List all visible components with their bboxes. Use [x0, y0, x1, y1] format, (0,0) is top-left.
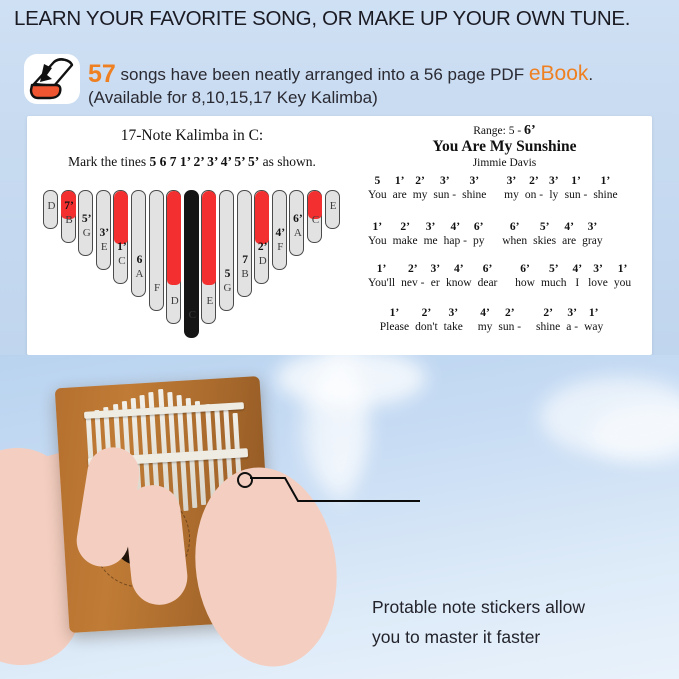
song-line-2: 1’You2’make3’me4’hap -6’py 6’when5’skies…: [365, 220, 647, 249]
tine-number-label: 7: [237, 254, 254, 266]
tine-marked-cap: [255, 191, 269, 245]
song-syllable: 4’my: [478, 306, 493, 335]
song-word: my: [504, 188, 519, 203]
tine-letter-label: D: [43, 200, 60, 212]
photo-caption: Protable note stickers allow you to mast…: [372, 592, 672, 652]
song-note: 1’: [373, 220, 383, 234]
tine-6[interactable]: 6A: [131, 190, 146, 297]
tine-number-label: 2’: [254, 241, 271, 253]
song-note: 5’: [540, 220, 550, 234]
song-line-row: 1’You'll2’nev -3’er4’know6’dear 6’how5’m…: [365, 262, 647, 291]
song-syllable: 2’on -: [525, 174, 543, 203]
song-word: nev -: [401, 276, 424, 291]
song-word: know: [446, 276, 472, 291]
song-syllable: 2’make: [393, 220, 418, 249]
tine-letter-label: E: [201, 295, 218, 307]
song-syllable: 4’hap -: [444, 220, 467, 249]
song-note: 2’: [400, 220, 410, 234]
song-note: 5’: [549, 262, 559, 276]
tine-letter-label: C: [307, 214, 324, 226]
song-note: 1’: [395, 174, 405, 188]
song-syllable: 3’er: [430, 262, 440, 291]
song-syllable: 2’my: [413, 174, 428, 203]
instruction-suffix: as shown.: [259, 154, 316, 169]
song-word: skies: [533, 234, 556, 249]
song-syllable: 3’me: [424, 220, 438, 249]
tine-number-label: 1’: [113, 241, 130, 253]
song-syllable: 5’skies: [533, 220, 556, 249]
song-syllable: [527, 306, 530, 335]
caption-line-2: you to master it faster: [372, 622, 672, 652]
song-syllable: 2’don't: [415, 306, 438, 335]
song-syllable: 1’You: [368, 220, 387, 249]
tine-row: D7’B5’G3’E1’C6AFDCE5G7B2’D4’F6’ACE: [43, 190, 343, 350]
song-note: 4’: [450, 220, 460, 234]
chart-instruction: Mark the tines 5 6 7 1’ 2’ 3’ 4’ 5’ 5’ a…: [27, 154, 357, 170]
song-syllable: 6’py: [473, 220, 485, 249]
promo-period: .: [588, 65, 593, 84]
instruction-prefix: Mark the tines: [68, 154, 149, 169]
product-infographic: LEARN YOUR FAVORITE SONG, OR MAKE UP YOU…: [0, 0, 679, 679]
tine-letter-label: G: [78, 227, 95, 239]
range-label: Range: 5 -: [473, 125, 524, 137]
top-banner: LEARN YOUR FAVORITE SONG, OR MAKE UP YOU…: [0, 0, 679, 366]
song-word: when: [502, 234, 527, 249]
song-syllable: [368, 306, 374, 335]
song-syllable: 3’sun -: [433, 174, 456, 203]
song-note: 4’: [564, 220, 574, 234]
tine-letter-label: E: [96, 241, 113, 253]
song-note: 1’: [571, 174, 581, 188]
song-syllable: 5You: [368, 174, 387, 203]
song-note: 3’: [440, 174, 450, 188]
song-line-row: 1’Please2’don't3’take 4’my2’sun - 2’shin…: [365, 306, 647, 335]
promo-line-2: (Available for 8,10,15,17 Key Kalimba): [88, 88, 668, 108]
tine-letter-label: D: [254, 255, 271, 267]
song-word: way: [584, 320, 603, 335]
tine-number-label: 6: [131, 254, 148, 266]
song-word: dear: [478, 276, 498, 291]
song-line-row: 5You1’are2’my3’sun -3’shine 3’my2’on -3’…: [365, 174, 647, 203]
tine-15[interactable]: 6’A: [289, 190, 304, 256]
song-note: 1’: [377, 262, 387, 276]
song-note: 6’: [510, 220, 520, 234]
song-line-row: 1’You2’make3’me4’hap -6’py 6’when5’skies…: [365, 220, 647, 249]
tine-2[interactable]: 7’B: [61, 190, 76, 243]
tine-3[interactable]: 5’G: [78, 190, 93, 256]
song-word: my: [413, 188, 428, 203]
song-syllable: [469, 306, 472, 335]
song-word: Please: [380, 320, 409, 335]
song-line-1: 5You1’are2’my3’sun -3’shine 3’my2’on -3’…: [365, 174, 647, 203]
tine-letter-label: A: [131, 268, 148, 280]
song-word: [490, 220, 496, 235]
song-syllable: 3’my: [504, 174, 519, 203]
song-syllable: 2’nev -: [401, 262, 424, 291]
song-note: 2’: [415, 174, 425, 188]
song-note: 4’: [480, 306, 490, 320]
tine-letter-label: F: [272, 241, 289, 253]
chart-title: 17-Note Kalimba in C:: [27, 127, 357, 145]
song-note: 1’: [589, 306, 599, 320]
tine-letter-label: B: [237, 268, 254, 280]
song-count: 57: [88, 60, 116, 88]
kalimba-tine-chart: 17-Note Kalimba in C: Mark the tines 5 6…: [27, 116, 357, 355]
song-syllable: 2’sun -: [498, 306, 521, 335]
song-note: 3’: [507, 174, 517, 188]
song-word: [503, 262, 509, 277]
song-note: 3’: [430, 262, 440, 276]
song-line-3: 1’You'll2’nev -3’er4’know6’dear 6’how5’m…: [365, 262, 647, 291]
page-headline: LEARN YOUR FAVORITE SONG, OR MAKE UP YOU…: [14, 7, 674, 31]
song-word: er: [431, 276, 440, 291]
tine-letter-label: C: [113, 255, 130, 267]
song-word: You: [368, 234, 387, 249]
song-word: make: [393, 234, 418, 249]
song-syllable: 4’I: [573, 262, 583, 291]
instruction-notes: 5 6 7 1’ 2’ 3’ 4’ 5’ 5’: [150, 154, 260, 169]
song-note: 2’: [505, 306, 515, 320]
song-syllable: [503, 262, 509, 291]
song-word: my: [478, 320, 493, 335]
song-word: [469, 306, 472, 321]
song-word: You: [368, 188, 387, 203]
tine-marked-cap: [167, 191, 181, 285]
song-word: gray: [582, 234, 602, 249]
song-syllable: 1’You'll: [368, 262, 395, 291]
song-note: 2’: [422, 306, 432, 320]
song-note: 1’: [601, 174, 611, 188]
tine-8[interactable]: D: [166, 190, 181, 324]
song-syllable: 1’shine: [593, 174, 617, 203]
song-syllable: 4’are: [562, 220, 576, 249]
tine-number-label: 5: [219, 268, 236, 280]
song-word: me: [424, 234, 438, 249]
song-note: 3’: [567, 306, 577, 320]
song-word: sun -: [565, 188, 588, 203]
tine-letter-label: E: [325, 200, 342, 212]
song-author: Jimmie Davis: [357, 157, 652, 169]
ebook-icon: [24, 54, 80, 104]
song-syllable: [490, 220, 496, 249]
tine-number-label: 4’: [272, 227, 289, 239]
promo-line-1: 57 songs have been neatly arranged into …: [88, 60, 668, 89]
tine-letter-label: F: [149, 282, 166, 294]
song-note: 3’: [469, 174, 479, 188]
song-syllable: 1’Please: [380, 306, 409, 335]
song-syllable: 1’are: [393, 174, 407, 203]
song-syllable: 4’know: [446, 262, 472, 291]
song-note: 2’: [543, 306, 553, 320]
promo-text: songs have been neatly arranged into a 5…: [116, 65, 529, 84]
song-sheet: Range: 5 - 6’ You Are My Sunshine Jimmie…: [357, 116, 652, 355]
range-high-note: 6’: [524, 123, 536, 138]
song-syllable: 1’you: [614, 262, 631, 291]
tine-13[interactable]: 2’D: [254, 190, 269, 284]
tine-16[interactable]: C: [307, 190, 322, 243]
tine-letter-label: D: [166, 295, 183, 307]
song-word: you: [614, 276, 631, 291]
info-card: 17-Note Kalimba in C: Mark the tines 5 6…: [27, 116, 652, 355]
song-note: 6’: [520, 262, 530, 276]
song-syllable: 2’shine: [536, 306, 560, 335]
song-note: 2’: [408, 262, 418, 276]
song-syllable: 6’when: [502, 220, 527, 249]
song-note: 3’: [593, 262, 603, 276]
song-note: 3’: [588, 220, 598, 234]
tine-letter-label: C: [184, 309, 201, 321]
tine-14[interactable]: 4’F: [272, 190, 287, 270]
tine-12[interactable]: 7B: [237, 190, 252, 297]
song-word: don't: [415, 320, 438, 335]
song-word: on -: [525, 188, 543, 203]
tine-number-label: 7’: [61, 200, 78, 212]
song-syllable: [492, 174, 498, 203]
song-note: 4’: [454, 262, 464, 276]
tine-7[interactable]: F: [149, 190, 164, 311]
caption-line-1: Protable note stickers allow: [372, 592, 672, 622]
tine-5[interactable]: 1’C: [113, 190, 128, 284]
tine-17[interactable]: E: [325, 190, 340, 229]
song-word: love: [588, 276, 608, 291]
song-note: 4’: [573, 262, 583, 276]
song-word: much: [541, 276, 567, 291]
song-syllable: 3’take: [444, 306, 463, 335]
ebook-word: eBook: [529, 62, 589, 85]
song-word: [492, 174, 498, 189]
song-note: 6’: [483, 262, 493, 276]
song-syllable: 6’how: [515, 262, 535, 291]
song-line-4: 1’Please2’don't3’take 4’my2’sun - 2’shin…: [365, 306, 647, 335]
song-word: shine: [536, 320, 560, 335]
tine-marked-cap: [202, 191, 216, 285]
song-word: You'll: [368, 276, 395, 291]
song-word: sun -: [433, 188, 456, 203]
song-word: are: [562, 234, 576, 249]
song-word: hap -: [444, 234, 467, 249]
song-note: 1’: [390, 306, 400, 320]
song-syllable: 3’ly: [549, 174, 559, 203]
tine-letter-label: B: [61, 214, 78, 226]
song-word: ly: [549, 188, 558, 203]
song-word: [368, 306, 374, 321]
song-syllable: 3’a -: [566, 306, 578, 335]
song-syllable: 3’shine: [462, 174, 486, 203]
song-range: Range: 5 - 6’: [357, 123, 652, 139]
song-syllable: 6’dear: [478, 262, 498, 291]
song-word: are: [393, 188, 407, 203]
song-title: You Are My Sunshine: [357, 138, 652, 156]
song-note: 3’: [448, 306, 458, 320]
tine-9[interactable]: C: [184, 190, 199, 338]
song-word: [527, 306, 530, 321]
song-syllable: 3’gray: [582, 220, 602, 249]
song-note: 3’: [426, 220, 436, 234]
song-syllable: 3’love: [588, 262, 608, 291]
song-note: 6’: [474, 220, 484, 234]
song-word: py: [473, 234, 485, 249]
song-word: how: [515, 276, 535, 291]
tine-number-label: 6’: [289, 213, 306, 225]
song-word: take: [444, 320, 463, 335]
tine-4[interactable]: 3’E: [96, 190, 111, 270]
song-word: a -: [566, 320, 578, 335]
song-note: 1’: [618, 262, 628, 276]
tine-number-label: 3’: [96, 227, 113, 239]
tine-letter-label: G: [219, 282, 236, 294]
song-word: shine: [593, 188, 617, 203]
tine-number-label: 5’: [78, 213, 95, 225]
tine-11[interactable]: 5G: [219, 190, 234, 311]
song-syllable: 1’way: [584, 306, 603, 335]
tine-marked-cap: [114, 191, 128, 245]
tine-10[interactable]: E: [201, 190, 216, 324]
song-note: 3’: [549, 174, 559, 188]
song-word: sun -: [498, 320, 521, 335]
song-note: 2’: [529, 174, 539, 188]
tine-letter-label: A: [289, 227, 306, 239]
song-word: shine: [462, 188, 486, 203]
song-syllable: 5’much: [541, 262, 567, 291]
song-note: 5: [374, 174, 380, 188]
song-word: I: [575, 276, 579, 291]
tine-1[interactable]: D: [43, 190, 58, 229]
song-syllable: 1’sun -: [565, 174, 588, 203]
